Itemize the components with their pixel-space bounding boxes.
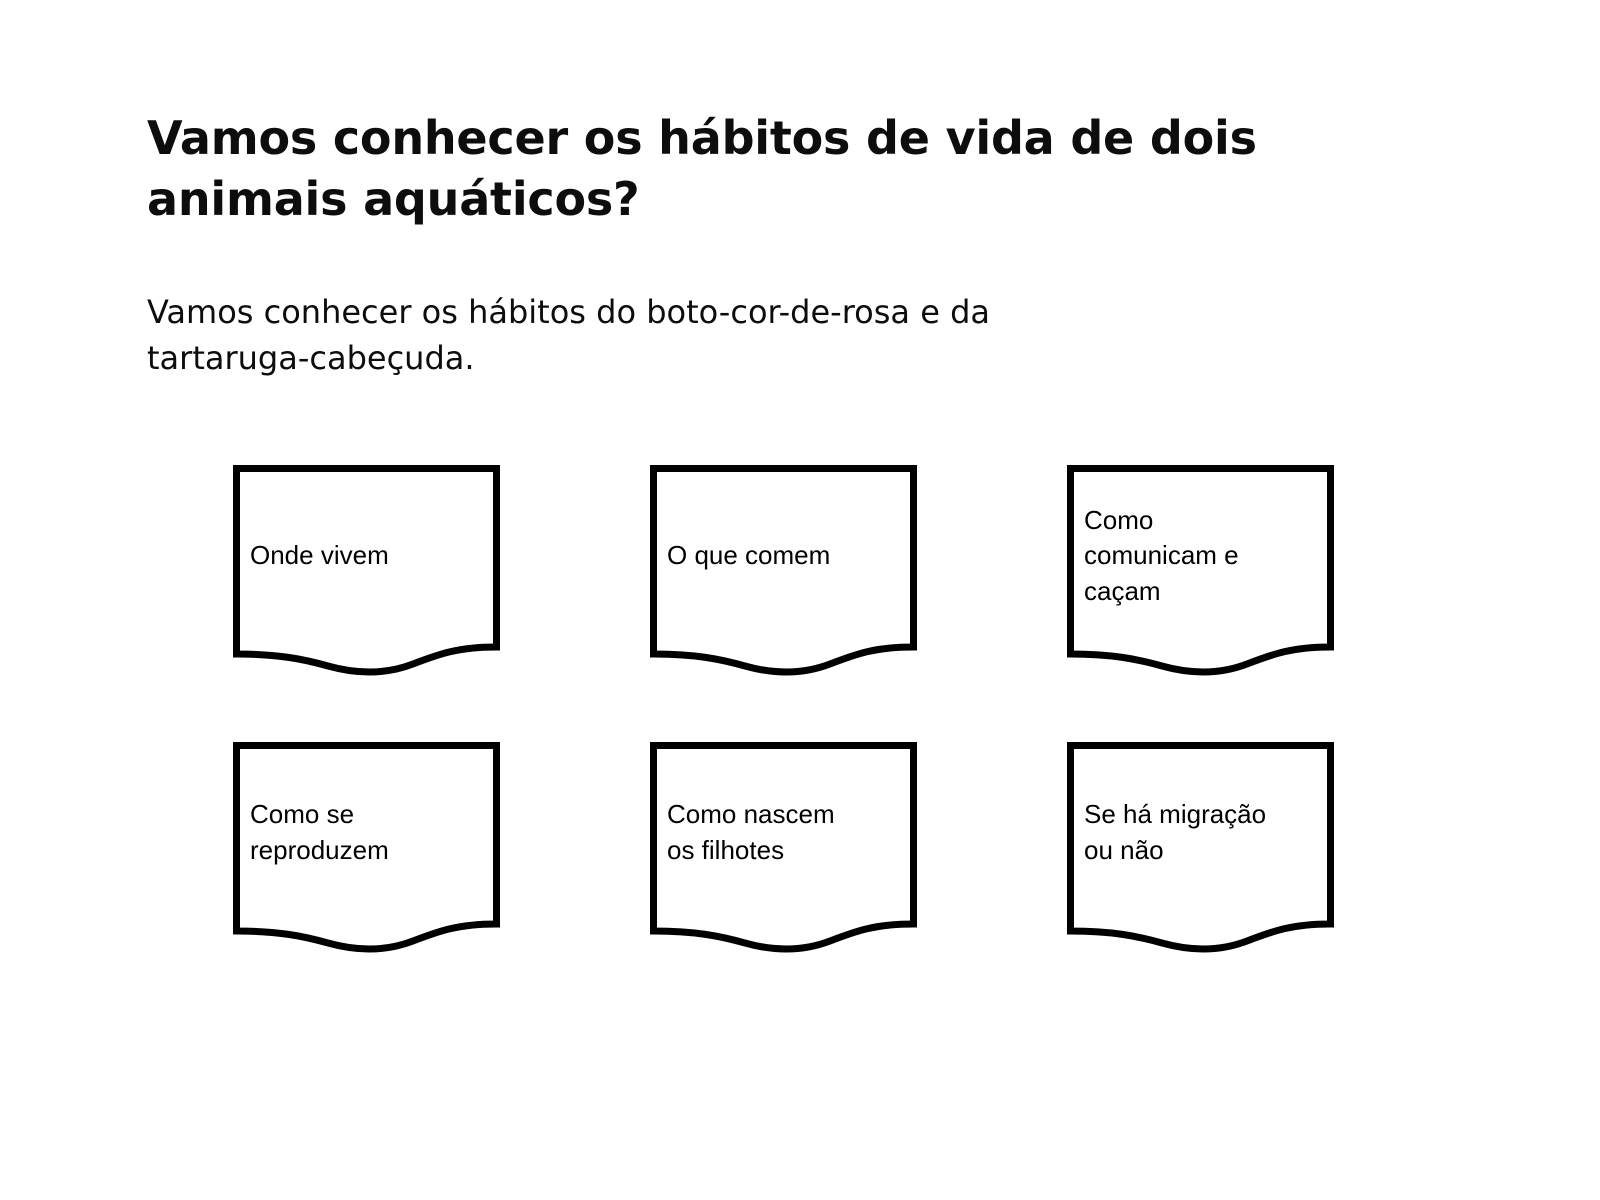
document-card-label: Onde vivem <box>250 538 389 574</box>
document-card[interactable]: O que comem <box>650 465 917 677</box>
document-card[interactable]: Como nascem os filhotes <box>650 742 917 954</box>
document-card-body: Se há migração ou não <box>1067 742 1334 924</box>
document-card-body: Como comunicam e caçam <box>1067 465 1334 647</box>
document-card-body: Onde vivem <box>233 465 500 647</box>
document-card[interactable]: Como se reproduzem <box>233 742 500 954</box>
document-card-body: Como nascem os filhotes <box>650 742 917 924</box>
page-title: Vamos conhecer os hábitos de vida de doi… <box>147 108 1277 230</box>
document-card-body: O que comem <box>650 465 917 647</box>
document-card-label: Como nascem os filhotes <box>667 797 835 868</box>
document-card-label: Se há migração ou não <box>1084 797 1266 868</box>
document-card-grid: Onde vivem O que comem Como comunicam e … <box>233 465 1333 954</box>
document-card-label: Como comunicam e caçam <box>1084 503 1239 610</box>
slide-header: Vamos conhecer os hábitos de vida de doi… <box>147 108 1327 230</box>
document-card-body: Como se reproduzem <box>233 742 500 924</box>
slide-subtitle: Vamos conhecer os hábitos do boto-cor-de… <box>147 289 1137 382</box>
slide-canvas: Vamos conhecer os hábitos de vida de doi… <box>0 0 1600 1200</box>
document-card[interactable]: Onde vivem <box>233 465 500 677</box>
document-card[interactable]: Como comunicam e caçam <box>1067 465 1334 677</box>
document-card-label: Como se reproduzem <box>250 797 389 868</box>
document-card[interactable]: Se há migração ou não <box>1067 742 1334 954</box>
document-card-label: O que comem <box>667 538 830 574</box>
